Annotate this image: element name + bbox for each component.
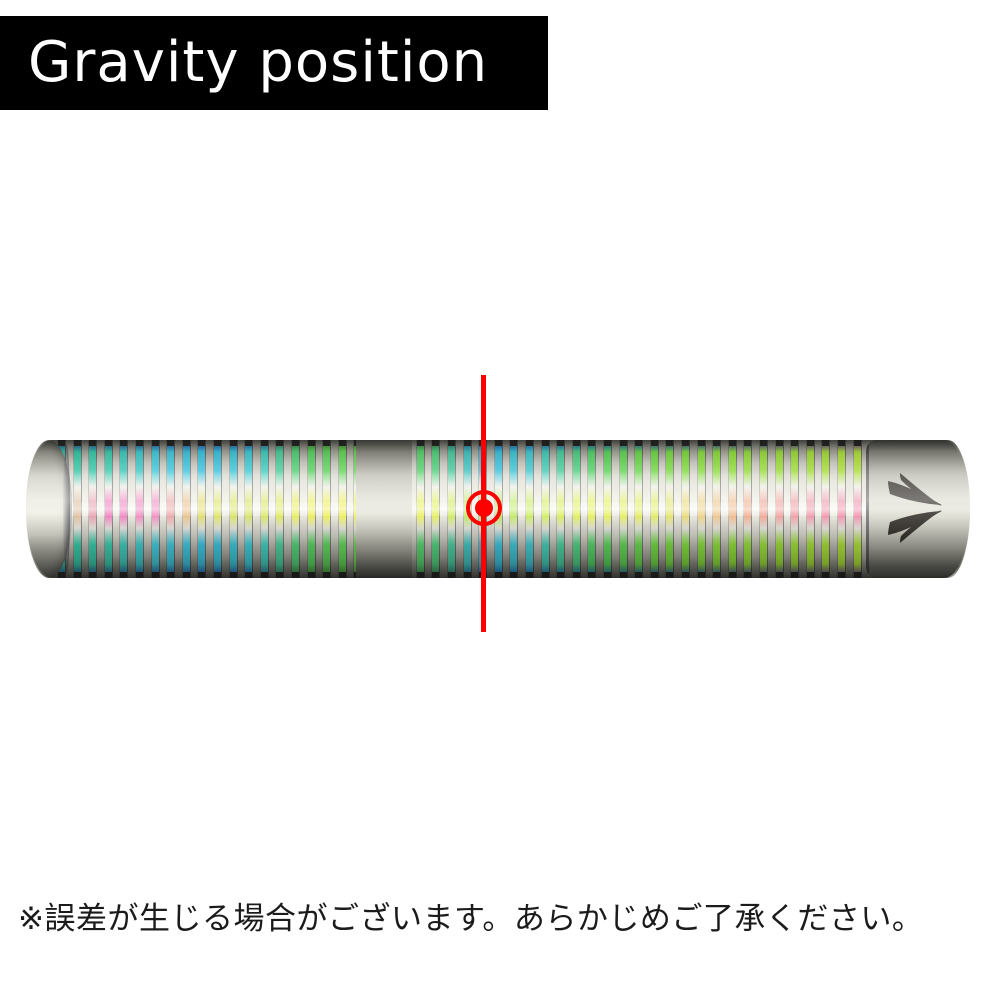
- barrel-groove-tooth: [651, 572, 658, 578]
- barrel-groove-tooth: [432, 572, 439, 578]
- barrel-groove-tooth: [682, 440, 689, 446]
- barrel-groove: [136, 440, 143, 578]
- barrel-groove-tooth: [495, 572, 502, 578]
- barrel-groove: [510, 440, 517, 578]
- barrel-groove: [89, 440, 96, 578]
- barrel-groove-tooth: [479, 572, 486, 578]
- product-figure: [0, 340, 1000, 680]
- barrel-groove-tooth: [698, 440, 705, 446]
- barrel-groove-tooth: [230, 440, 237, 446]
- barrel-groove: [495, 440, 502, 578]
- barrel-groove: [698, 440, 705, 578]
- barrel-groove-tooth: [495, 440, 502, 446]
- barrel-groove-tooth: [167, 440, 174, 446]
- barrel-groove: [588, 440, 595, 578]
- barrel-groove-tooth: [89, 572, 96, 578]
- barrel-groove-tooth: [838, 440, 845, 446]
- barrel-groove-tooth: [776, 440, 783, 446]
- barrel-groove-tooth: [635, 440, 642, 446]
- barrel-groove: [744, 440, 751, 578]
- barrel-groove: [245, 440, 252, 578]
- barrel-groove-tooth: [105, 440, 112, 446]
- barrel-groove: [276, 440, 283, 578]
- barrel-groove: [526, 440, 533, 578]
- barrel-groove-tooth: [152, 572, 159, 578]
- barrel-groove: [713, 440, 720, 578]
- barrel-groove-tooth: [479, 440, 486, 446]
- barrel-groove-tooth: [557, 440, 564, 446]
- barrel-groove-tooth: [323, 572, 330, 578]
- barrel-groove-tooth: [822, 572, 829, 578]
- barrel-groove-tooth: [276, 440, 283, 446]
- barrel-groove-tooth: [713, 572, 720, 578]
- barrel-groove: [308, 440, 315, 578]
- barrel-groove: [230, 440, 237, 578]
- barrel-groove: [261, 440, 268, 578]
- barrel-groove-tooth: [744, 572, 751, 578]
- barrel-groove-tooth: [323, 440, 330, 446]
- barrel-groove-tooth: [448, 572, 455, 578]
- barrel-groove-tooth: [245, 440, 252, 446]
- barrel-groove-tooth: [542, 440, 549, 446]
- barrel-groove-tooth: [230, 572, 237, 578]
- barrel-groove: [807, 440, 814, 578]
- barrel-groove-tooth: [666, 572, 673, 578]
- barrel-groove: [666, 440, 673, 578]
- barrel-groove: [120, 440, 127, 578]
- barrel-groove: [74, 440, 81, 578]
- barrel-groove: [323, 440, 330, 578]
- barrel-groove-tooth: [105, 572, 112, 578]
- barrel-groove-tooth: [526, 572, 533, 578]
- barrel-groove-tooth: [120, 572, 127, 578]
- barrel-groove-tooth: [744, 440, 751, 446]
- barrel-groove-tooth: [620, 572, 627, 578]
- barrel-groove: [448, 440, 455, 578]
- barrel-groove: [682, 440, 689, 578]
- barrel-groove-tooth: [89, 440, 96, 446]
- barrel-groove: [651, 440, 658, 578]
- barrel-groove-tooth: [464, 572, 471, 578]
- barrel-groove-tooth: [651, 440, 658, 446]
- barrel-groove-tooth: [58, 440, 65, 446]
- barrel-groove: [542, 440, 549, 578]
- barrel-groove-tooth: [510, 572, 517, 578]
- barrel-groove-tooth: [261, 572, 268, 578]
- barrel-groove-tooth: [807, 572, 814, 578]
- barrel-groove-pattern: [56, 440, 870, 578]
- barrel-groove: [183, 440, 190, 578]
- barrel-groove: [152, 440, 159, 578]
- barrel-groove-tooth: [167, 572, 174, 578]
- barrel-groove-tooth: [183, 440, 190, 446]
- barrel-groove-tooth: [604, 572, 611, 578]
- barrel-groove-tooth: [432, 440, 439, 446]
- barrel-groove-tooth: [136, 572, 143, 578]
- barrel-groove-tooth: [588, 440, 595, 446]
- barrel-groove: [339, 440, 346, 578]
- barrel-groove: [620, 440, 627, 578]
- barrel-groove-tooth: [354, 572, 361, 578]
- barrel-groove-tooth: [214, 440, 221, 446]
- barrel-groove-tooth: [308, 440, 315, 446]
- barrel-groove-tooth: [292, 440, 299, 446]
- barrel-groove-tooth: [776, 572, 783, 578]
- disclaimer-footnote: ※誤差が生じる場合がございます。あらかじめご了承ください。: [18, 900, 982, 939]
- barrel-groove-tooth: [729, 440, 736, 446]
- barrel-groove-tooth: [198, 440, 205, 446]
- barrel-groove-tooth: [838, 572, 845, 578]
- barrel-groove-tooth: [666, 440, 673, 446]
- barrel-groove-tooth: [339, 440, 346, 446]
- barrel-groove-tooth: [120, 440, 127, 446]
- barrel-left-end-cap: [26, 440, 72, 578]
- barrel-groove-tooth: [573, 440, 580, 446]
- barrel-groove-tooth: [261, 440, 268, 446]
- barrel-groove-tooth: [526, 440, 533, 446]
- barrel-groove-tooth: [136, 440, 143, 446]
- barrel-groove-tooth: [807, 440, 814, 446]
- barrel-groove-tooth: [698, 572, 705, 578]
- barrel-groove-tooth: [588, 572, 595, 578]
- barrel-groove-tooth: [339, 572, 346, 578]
- barrel-groove-tooth: [183, 572, 190, 578]
- barrel-groove-tooth: [604, 440, 611, 446]
- barrel-groove-tooth: [354, 440, 361, 446]
- barrel-groove-tooth: [791, 440, 798, 446]
- target-dart-logo-icon: [884, 471, 946, 545]
- barrel-groove: [105, 440, 112, 578]
- barrel-groove: [479, 440, 486, 578]
- barrel-groove-tooth: [713, 440, 720, 446]
- barrel-groove-tooth: [74, 572, 81, 578]
- barrel-groove-tooth: [573, 572, 580, 578]
- barrel-groove-tooth: [58, 572, 65, 578]
- barrel-right-end-cap: [866, 440, 970, 578]
- barrel-groove: [854, 440, 861, 578]
- barrel-groove: [167, 440, 174, 578]
- barrel-groove: [417, 440, 424, 578]
- barrel-body: [26, 440, 970, 578]
- barrel-groove: [635, 440, 642, 578]
- barrel-groove: [464, 440, 471, 578]
- barrel-groove-tooth: [854, 572, 861, 578]
- barrel-groove-tooth: [214, 572, 221, 578]
- barrel-groove-tooth: [620, 440, 627, 446]
- barrel-groove-tooth: [417, 440, 424, 446]
- barrel-groove-tooth: [308, 572, 315, 578]
- barrel-groove-tooth: [635, 572, 642, 578]
- barrel-groove-tooth: [822, 440, 829, 446]
- barrel-groove-tooth: [292, 572, 299, 578]
- page-title: Gravity position: [28, 35, 488, 91]
- barrel-groove: [791, 440, 798, 578]
- barrel-groove-tooth: [760, 440, 767, 446]
- barrel-groove-tooth: [510, 440, 517, 446]
- barrel-groove-tooth: [854, 440, 861, 446]
- barrel-groove: [729, 440, 736, 578]
- barrel-groove-tooth: [152, 440, 159, 446]
- barrel-groove: [822, 440, 829, 578]
- barrel-groove: [573, 440, 580, 578]
- barrel-groove-tooth: [417, 572, 424, 578]
- barrel-groove: [604, 440, 611, 578]
- barrel-groove-tooth: [729, 572, 736, 578]
- barrel-groove-tooth: [760, 572, 767, 578]
- barrel-groove-tooth: [682, 572, 689, 578]
- barrel-groove-tooth: [557, 572, 564, 578]
- barrel-groove-tooth: [791, 572, 798, 578]
- barrel-groove-tooth: [198, 572, 205, 578]
- barrel-groove-tooth: [542, 572, 549, 578]
- barrel-groove: [198, 440, 205, 578]
- barrel-groove: [292, 440, 299, 578]
- barrel-groove-tooth: [464, 440, 471, 446]
- barrel-groove: [214, 440, 221, 578]
- barrel-groove: [776, 440, 783, 578]
- barrel-groove: [760, 440, 767, 578]
- barrel-groove: [432, 440, 439, 578]
- barrel-groove-tooth: [245, 572, 252, 578]
- barrel-groove-tooth: [276, 572, 283, 578]
- barrel-groove-tooth: [74, 440, 81, 446]
- barrel-groove: [838, 440, 845, 578]
- barrel-groove-tooth: [448, 440, 455, 446]
- barrel-groove: [557, 440, 564, 578]
- barrel-groove: [354, 440, 361, 578]
- dart-barrel-image: [26, 440, 970, 578]
- title-banner: Gravity position: [0, 16, 548, 110]
